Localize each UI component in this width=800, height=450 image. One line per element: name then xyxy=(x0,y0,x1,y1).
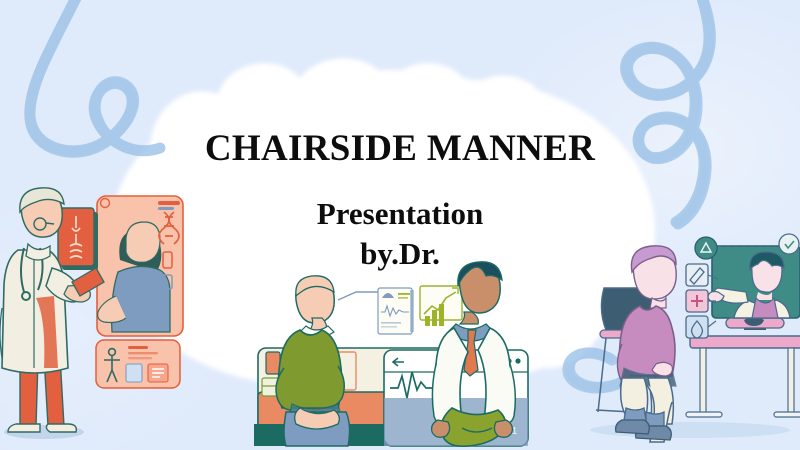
subtitle-line-1: Presentation xyxy=(0,194,800,234)
page-title: CHAIRSIDE MANNER xyxy=(0,126,800,172)
text-layer: CHAIRSIDE MANNER Presentation by.Dr. xyxy=(0,0,800,450)
subtitle: Presentation by.Dr. xyxy=(0,194,800,274)
title-block: CHAIRSIDE MANNER Presentation by.Dr. xyxy=(0,126,800,274)
subtitle-line-2: by.Dr. xyxy=(0,234,800,274)
presentation-slide: 00:11 xyxy=(0,0,800,450)
